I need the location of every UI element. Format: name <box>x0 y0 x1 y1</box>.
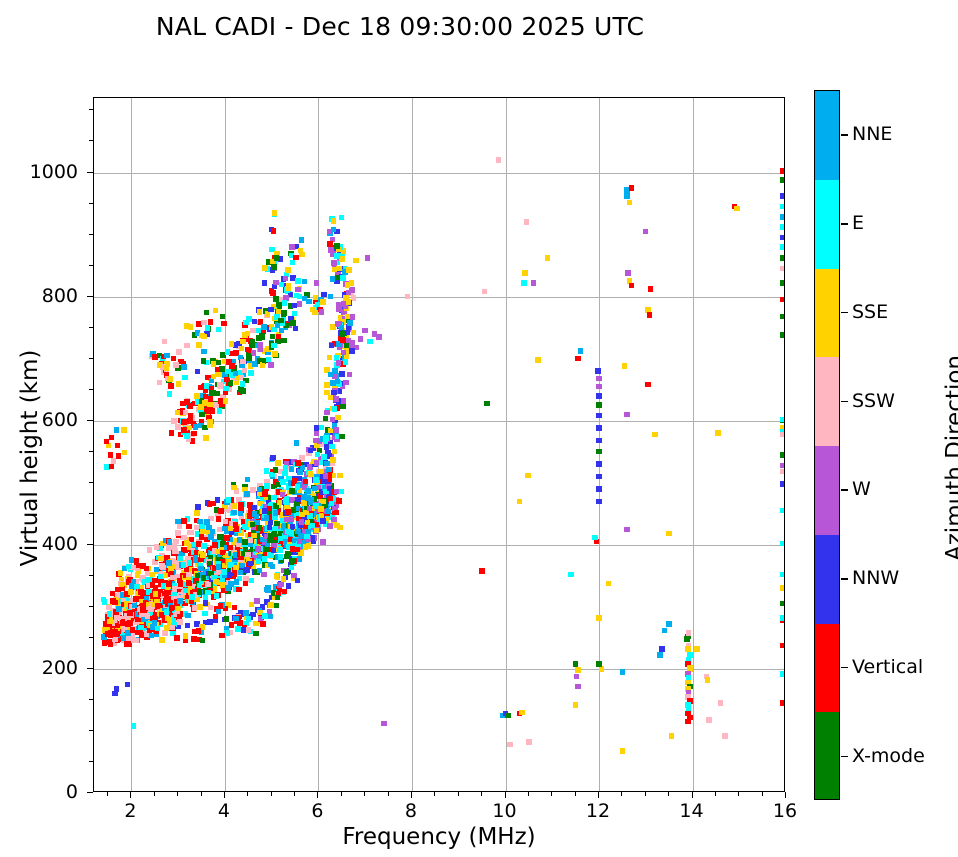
data-point <box>780 214 785 220</box>
data-point <box>295 287 301 293</box>
data-point <box>686 630 692 636</box>
data-point <box>114 686 120 692</box>
data-point <box>321 292 327 298</box>
data-point <box>318 506 324 512</box>
x-minor-tick <box>271 792 272 796</box>
y-minor-tick <box>89 513 93 514</box>
data-point <box>194 510 200 516</box>
data-point <box>405 294 411 300</box>
y-minor-tick <box>89 265 93 266</box>
data-point <box>229 622 235 628</box>
colorbar-tick-e <box>841 223 848 225</box>
data-point <box>297 476 303 482</box>
data-point <box>231 510 237 516</box>
colorbar-title: Azimuth Direction <box>942 293 958 623</box>
data-point <box>275 595 281 601</box>
data-point <box>484 401 490 407</box>
data-point <box>267 506 273 512</box>
data-point <box>780 601 785 607</box>
data-point <box>332 406 338 412</box>
y-minor-tick <box>89 327 93 328</box>
data-point <box>172 543 178 549</box>
data-point <box>257 554 263 560</box>
data-point <box>333 427 339 433</box>
data-point <box>223 519 229 525</box>
data-point <box>244 567 250 573</box>
data-point <box>224 630 230 636</box>
data-point <box>780 481 785 487</box>
data-point <box>195 369 201 375</box>
data-point <box>175 410 181 416</box>
colorbar-segment-vertical[interactable] <box>815 624 839 713</box>
data-point <box>184 323 190 329</box>
data-point <box>290 558 296 564</box>
data-point <box>277 500 283 506</box>
data-point <box>200 552 206 558</box>
x-tick-14 <box>692 792 693 798</box>
data-point <box>254 598 260 604</box>
data-point <box>575 667 581 673</box>
y-minor-tick <box>89 389 93 390</box>
data-point <box>106 605 112 611</box>
data-point <box>294 440 300 446</box>
data-point <box>339 489 345 495</box>
x-tick-label-8: 8 <box>405 800 417 822</box>
data-point <box>309 523 315 529</box>
data-point <box>152 354 158 360</box>
x-tick-12 <box>598 792 599 798</box>
data-point <box>183 633 189 639</box>
data-point <box>780 432 785 438</box>
data-point <box>332 449 338 455</box>
colorbar-tick-nne <box>841 134 848 136</box>
data-point <box>199 333 205 339</box>
y-minor-tick <box>89 358 93 359</box>
data-point <box>289 516 295 522</box>
data-point <box>280 479 286 485</box>
colorbar-segment-ssw[interactable] <box>815 357 839 446</box>
data-point <box>346 290 352 296</box>
data-point <box>220 314 226 320</box>
data-point <box>101 597 107 603</box>
data-point <box>153 591 159 597</box>
data-point <box>119 582 125 588</box>
data-point <box>274 573 280 579</box>
data-point <box>207 402 213 408</box>
data-point <box>278 318 284 324</box>
x-minor-tick <box>575 792 576 796</box>
data-point <box>505 713 511 719</box>
x-minor-tick <box>154 792 155 796</box>
data-point <box>221 321 227 327</box>
colorbar-segment-nne[interactable] <box>815 91 839 180</box>
data-point <box>596 474 602 480</box>
data-point <box>168 383 174 389</box>
data-point <box>275 460 281 466</box>
data-point <box>315 452 321 458</box>
data-point <box>334 510 340 516</box>
x-minor-tick <box>762 792 763 796</box>
y-minor-tick <box>89 606 93 607</box>
data-point <box>216 327 222 333</box>
data-point <box>213 579 219 585</box>
data-point <box>254 514 260 520</box>
data-point <box>229 341 235 347</box>
x-minor-tick <box>715 792 716 796</box>
data-point <box>666 621 672 627</box>
data-point <box>279 328 285 334</box>
data-point <box>780 671 785 677</box>
data-point <box>324 444 330 450</box>
data-point <box>155 626 161 632</box>
colorbar-segment-w[interactable] <box>815 446 839 535</box>
x-tick-label-4: 4 <box>218 800 230 822</box>
data-point <box>173 362 179 368</box>
data-point <box>242 368 248 374</box>
data-point <box>154 544 160 550</box>
data-point <box>255 546 261 552</box>
data-point <box>238 570 244 576</box>
data-point <box>331 517 337 523</box>
plot-area[interactable] <box>93 97 785 792</box>
data-point <box>575 356 581 362</box>
data-point <box>203 600 209 606</box>
data-point <box>114 427 120 433</box>
data-point <box>192 629 198 635</box>
data-point <box>780 224 785 230</box>
data-point <box>245 552 251 558</box>
data-point <box>780 193 785 199</box>
data-point <box>217 382 223 388</box>
y-tick-800 <box>87 296 93 297</box>
y-minor-tick <box>89 140 93 141</box>
data-point <box>218 603 224 609</box>
data-point <box>113 631 119 637</box>
colorbar-label-nnw: NNW <box>852 567 899 589</box>
data-point <box>225 349 231 355</box>
data-point <box>358 336 364 342</box>
data-point <box>780 541 785 547</box>
data-point <box>211 374 217 380</box>
data-point <box>271 532 277 538</box>
data-point <box>187 403 193 409</box>
data-point <box>171 418 177 424</box>
data-point <box>324 461 330 467</box>
data-point <box>197 519 203 525</box>
data-point <box>234 579 240 585</box>
x-minor-tick <box>107 792 108 796</box>
data-point <box>200 529 206 535</box>
data-point <box>204 383 210 389</box>
data-point <box>202 611 208 617</box>
data-point <box>207 419 213 425</box>
data-point <box>578 348 584 354</box>
colorbar-tick-ssw <box>841 401 848 403</box>
data-point <box>249 578 255 584</box>
data-point <box>250 487 256 493</box>
data-point <box>718 700 724 706</box>
data-point <box>292 303 298 309</box>
data-point <box>312 310 318 316</box>
data-point <box>329 343 335 349</box>
x-minor-tick <box>294 792 295 796</box>
data-point <box>271 548 277 554</box>
data-point <box>240 381 246 387</box>
data-point <box>203 595 209 601</box>
data-point <box>257 568 263 574</box>
colorbar-label-vertical: Vertical <box>852 656 923 678</box>
data-point <box>200 638 206 644</box>
x-axis-title: Frequency (MHz) <box>93 824 785 850</box>
data-point <box>282 589 288 595</box>
data-point <box>545 255 551 261</box>
colorbar-tick-w <box>841 489 848 491</box>
data-point <box>201 349 207 355</box>
x-minor-tick <box>528 792 529 796</box>
data-point <box>198 404 204 410</box>
data-point <box>323 435 329 441</box>
data-point <box>349 280 355 286</box>
data-point <box>780 615 785 621</box>
data-point <box>218 508 224 514</box>
data-point <box>251 350 257 356</box>
data-point <box>240 388 246 394</box>
data-point <box>624 193 630 199</box>
data-point <box>341 350 347 356</box>
data-point <box>283 276 289 282</box>
colorbar[interactable] <box>814 90 840 800</box>
data-point <box>625 270 631 276</box>
data-point <box>273 296 279 302</box>
x-tick-8 <box>411 792 412 798</box>
data-point <box>131 637 137 643</box>
data-point <box>622 363 628 369</box>
data-point <box>195 504 201 510</box>
data-point <box>188 530 194 536</box>
data-point <box>280 492 286 498</box>
data-point <box>167 617 173 623</box>
data-point <box>264 483 270 489</box>
data-point <box>362 328 368 334</box>
x-tick-16 <box>785 792 786 798</box>
data-point <box>596 393 602 399</box>
data-point <box>620 669 626 675</box>
data-point <box>274 603 280 609</box>
data-point <box>350 314 356 320</box>
data-point <box>517 499 523 505</box>
data-point <box>297 538 303 544</box>
data-point <box>217 408 223 414</box>
data-point <box>281 310 287 316</box>
data-point <box>181 535 187 541</box>
data-point <box>240 359 246 365</box>
data-point <box>258 346 264 352</box>
data-point <box>780 572 785 578</box>
data-point <box>303 479 309 485</box>
data-point <box>507 742 513 748</box>
data-point <box>167 539 173 545</box>
x-tick-label-12: 12 <box>586 800 610 822</box>
data-point <box>596 413 602 419</box>
colorbar-tick-x-mode <box>841 756 848 758</box>
y-tick-200 <box>87 668 93 669</box>
data-point <box>525 473 531 479</box>
data-point <box>115 443 121 449</box>
data-point <box>216 516 222 522</box>
data-point <box>164 365 170 371</box>
data-point <box>269 288 275 294</box>
data-point <box>328 294 334 300</box>
data-point <box>295 484 301 490</box>
data-point <box>327 355 333 361</box>
data-point <box>181 518 187 524</box>
data-point <box>592 535 598 541</box>
data-point <box>147 547 153 553</box>
y-minor-tick <box>89 575 93 576</box>
data-point <box>231 503 237 509</box>
data-point <box>298 248 304 254</box>
data-point <box>314 431 320 437</box>
data-point <box>260 621 266 627</box>
data-point <box>225 369 231 375</box>
data-point <box>204 310 210 316</box>
data-point <box>312 486 318 492</box>
data-point <box>224 377 230 383</box>
data-point <box>349 340 355 346</box>
data-point <box>264 587 270 593</box>
data-point <box>285 267 291 273</box>
data-point <box>780 417 785 423</box>
data-point <box>127 610 133 616</box>
x-minor-tick <box>738 792 739 796</box>
data-point <box>271 343 277 349</box>
x-minor-tick <box>621 792 622 796</box>
data-point <box>295 529 301 535</box>
data-point <box>657 652 663 658</box>
data-point <box>145 613 151 619</box>
page-title: NAL CADI - Dec 18 09:30:00 2025 UTC <box>0 12 800 41</box>
gridline-x-10 <box>506 98 507 791</box>
data-point <box>209 408 215 414</box>
data-point <box>138 589 144 595</box>
data-point <box>321 454 327 460</box>
data-point <box>331 218 337 224</box>
data-point <box>347 320 353 326</box>
data-point <box>257 309 263 315</box>
data-point <box>246 616 252 622</box>
y-minor-tick <box>89 451 93 452</box>
colorbar-segment-nnw[interactable] <box>815 535 839 624</box>
data-point <box>252 319 258 325</box>
data-point <box>327 486 333 492</box>
data-point <box>332 368 338 374</box>
data-point <box>241 627 247 633</box>
data-point <box>328 395 334 401</box>
colorbar-segment-x-mode[interactable] <box>815 712 839 800</box>
data-point <box>282 300 288 306</box>
data-point <box>216 360 222 366</box>
data-point <box>624 527 630 533</box>
data-point <box>596 661 602 667</box>
data-point <box>293 255 299 261</box>
data-point <box>203 394 209 400</box>
data-point <box>251 505 257 511</box>
data-point <box>780 204 785 210</box>
data-point <box>272 351 278 357</box>
data-point <box>304 534 310 540</box>
data-point <box>596 615 602 621</box>
data-point <box>596 499 602 505</box>
data-point <box>185 623 191 629</box>
data-point <box>189 594 195 600</box>
data-point <box>273 467 279 473</box>
data-point <box>234 526 240 532</box>
data-point <box>331 457 337 463</box>
data-point <box>102 640 108 646</box>
data-point <box>271 264 277 270</box>
data-point <box>331 260 337 266</box>
data-point <box>273 510 279 516</box>
colorbar-segment-sse[interactable] <box>815 269 839 358</box>
y-tick-label-1000: 1000 <box>0 161 78 183</box>
data-point <box>573 661 579 667</box>
y-minor-tick <box>89 203 93 204</box>
y-minor-tick <box>89 234 93 235</box>
data-point <box>158 556 164 562</box>
data-point <box>339 434 345 440</box>
data-point <box>349 348 355 354</box>
data-point <box>295 547 301 553</box>
data-point <box>177 524 183 530</box>
data-point <box>596 461 602 467</box>
data-point <box>780 297 785 303</box>
x-tick-2 <box>130 792 131 798</box>
data-point <box>327 241 333 247</box>
data-point <box>722 733 728 739</box>
data-point <box>340 337 346 343</box>
x-minor-tick <box>551 792 552 796</box>
data-point <box>135 630 141 636</box>
data-point <box>336 306 342 312</box>
data-point <box>213 614 219 620</box>
data-point <box>214 593 220 599</box>
y-minor-tick <box>89 761 93 762</box>
data-point <box>780 235 785 241</box>
gridline-y-200 <box>94 669 784 670</box>
data-point <box>347 372 353 378</box>
data-point <box>250 339 256 345</box>
gridline-y-800 <box>94 297 784 298</box>
data-point <box>295 460 301 466</box>
data-point <box>164 353 170 359</box>
data-point <box>181 419 187 425</box>
y-minor-tick <box>89 482 93 483</box>
data-point <box>271 228 277 234</box>
data-point <box>596 438 602 444</box>
data-point <box>238 502 244 508</box>
x-minor-tick <box>341 792 342 796</box>
data-point <box>285 551 291 557</box>
colorbar-label-e: E <box>852 212 864 234</box>
data-point <box>220 550 226 556</box>
data-point <box>780 469 785 475</box>
data-point <box>205 581 211 587</box>
data-point <box>109 435 115 441</box>
data-point <box>320 299 326 305</box>
data-point <box>606 581 612 587</box>
gridline-x-8 <box>412 98 413 791</box>
colorbar-segment-e[interactable] <box>815 180 839 269</box>
